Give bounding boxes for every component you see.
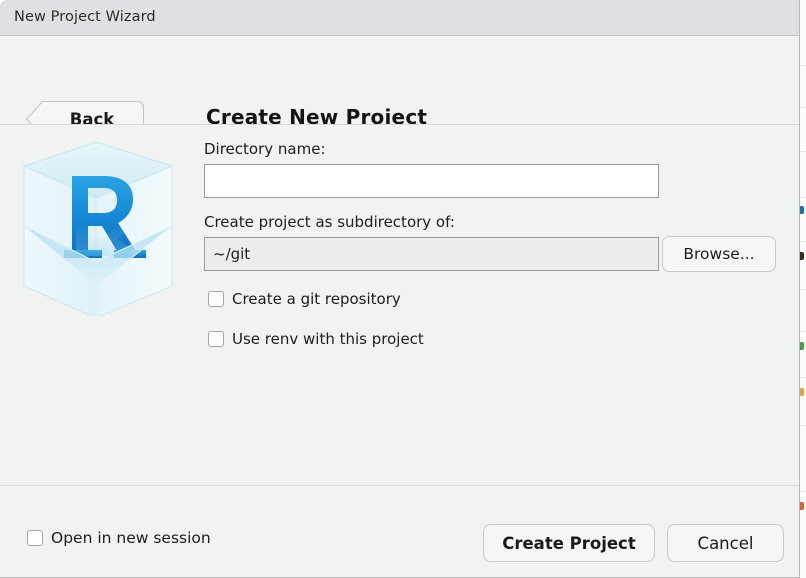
dialog-body: Directory name: Create project as subdir… (0, 126, 800, 484)
browse-button[interactable]: Browse... (662, 236, 776, 272)
open-in-new-session-label: Open in new session (51, 529, 211, 547)
window-title: New Project Wizard (14, 9, 156, 25)
create-git-repository-checkbox[interactable] (208, 291, 224, 307)
subdirectory-label: Create project as subdirectory of: (204, 213, 455, 231)
use-renv-checkbox-row[interactable]: Use renv with this project (208, 330, 424, 348)
use-renv-label: Use renv with this project (232, 330, 424, 348)
r-project-cube-icon (18, 138, 178, 316)
header-separator (0, 124, 800, 125)
directory-name-label: Directory name: (204, 140, 326, 158)
open-in-new-session-checkbox-row[interactable]: Open in new session (27, 529, 211, 547)
create-project-button[interactable]: Create Project (483, 524, 655, 562)
directory-name-input[interactable] (204, 164, 659, 198)
use-renv-checkbox[interactable] (208, 331, 224, 347)
cancel-button[interactable]: Cancel (667, 524, 784, 562)
create-git-repository-checkbox-row[interactable]: Create a git repository (208, 290, 401, 308)
dialog-titlebar: New Project Wizard (0, 0, 800, 36)
subdirectory-input[interactable] (204, 237, 659, 271)
new-project-wizard-dialog: New Project Wizard Back Create New Proje… (0, 0, 800, 578)
create-git-repository-label: Create a git repository (232, 290, 401, 308)
dialog-header: Back Create New Project (0, 37, 800, 125)
open-in-new-session-checkbox[interactable] (27, 530, 43, 546)
